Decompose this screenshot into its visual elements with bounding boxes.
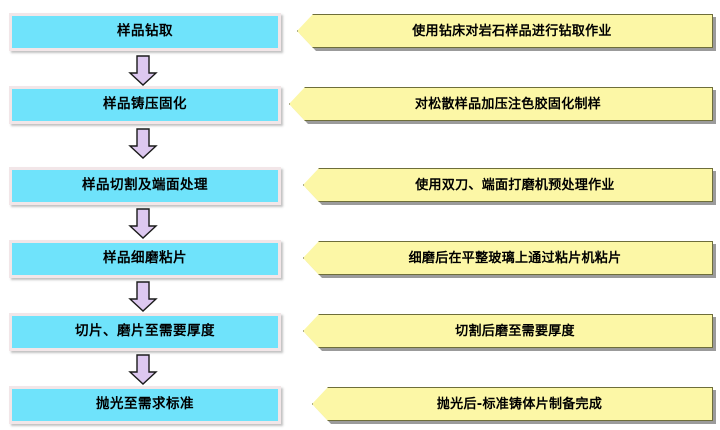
flow-row: 样品细磨粘片细磨后在平整玻璃上通过粘片机粘片 xyxy=(0,240,720,278)
step-label: 样品切割及端面处理 xyxy=(82,179,208,193)
note-label: 切割后磨至需要厚度 xyxy=(441,325,575,338)
note-label: 使用钻床对岩石样品进行钻取作业 xyxy=(398,25,612,38)
note-label: 抛光后-标准铸体片制备完成 xyxy=(423,398,602,411)
flow-row: 样品铸压固化对松散样品加压注色胶固化制样 xyxy=(0,86,720,124)
note-banner-1[interactable]: 使用钻床对岩石样品进行钻取作业 xyxy=(297,14,713,48)
step-label: 样品铸压固化 xyxy=(103,98,187,112)
flow-row: 切片、磨片至需要厚度切割后磨至需要厚度 xyxy=(0,313,720,351)
step-box-5[interactable]: 切片、磨片至需要厚度 xyxy=(9,313,281,351)
note-banner-4[interactable]: 细磨后在平整玻璃上通过粘片机粘片 xyxy=(303,241,713,275)
step-label: 样品细磨粘片 xyxy=(103,252,187,266)
step-box-3[interactable]: 样品切割及端面处理 xyxy=(9,167,281,205)
flowchart-canvas: 样品钻取使用钻床对岩石样品进行钻取作业样品铸压固化对松散样品加压注色胶固化制样样… xyxy=(0,0,720,430)
step-box-2[interactable]: 样品铸压固化 xyxy=(9,86,281,124)
step-label: 抛光至需求标准 xyxy=(96,398,194,412)
note-banner-2[interactable]: 对松散样品加压注色胶固化制样 xyxy=(289,87,713,121)
note-banner-3[interactable]: 使用双刀、端面打磨机预处理作业 xyxy=(303,168,713,202)
step-label: 切片、磨片至需要厚度 xyxy=(75,325,215,339)
flow-row: 样品钻取使用钻床对岩石样品进行钻取作业 xyxy=(0,13,720,51)
flow-row: 抛光至需求标准抛光后-标准铸体片制备完成 xyxy=(0,386,720,424)
down-arrow-icon xyxy=(128,128,158,160)
step-label: 样品钻取 xyxy=(117,25,173,39)
note-label: 细磨后在平整玻璃上通过粘片机粘片 xyxy=(395,252,622,265)
note-banner-6[interactable]: 抛光后-标准铸体片制备完成 xyxy=(312,387,713,421)
step-box-6[interactable]: 抛光至需求标准 xyxy=(9,386,281,424)
note-label: 对松散样品加压注色胶固化制样 xyxy=(401,98,601,111)
down-arrow-icon xyxy=(128,281,158,313)
step-box-1[interactable]: 样品钻取 xyxy=(9,13,281,51)
down-arrow-icon xyxy=(128,55,158,87)
step-box-4[interactable]: 样品细磨粘片 xyxy=(9,240,281,278)
flow-row: 样品切割及端面处理使用双刀、端面打磨机预处理作业 xyxy=(0,167,720,205)
note-banner-5[interactable]: 切割后磨至需要厚度 xyxy=(303,314,713,348)
down-arrow-icon xyxy=(128,354,158,386)
down-arrow-icon xyxy=(128,208,158,240)
note-label: 使用双刀、端面打磨机预处理作业 xyxy=(401,179,615,192)
